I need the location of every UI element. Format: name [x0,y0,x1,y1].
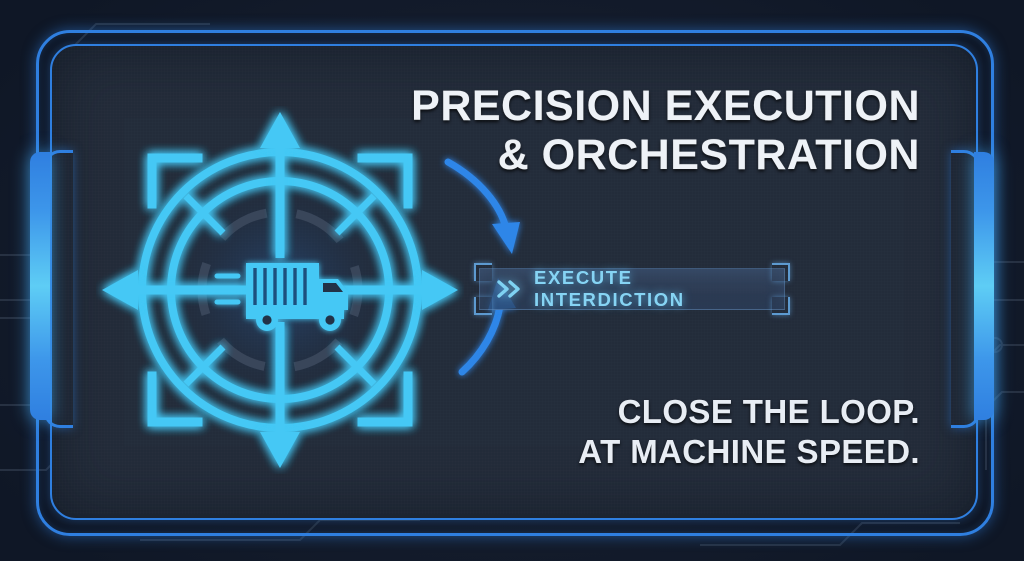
tagline: CLOSE THE LOOP. AT MACHINE SPEED. [360,392,920,473]
cta-bracket-bottom-right [772,297,790,315]
cta-bracket-top-right [772,263,790,281]
cta-bracket-top-left [474,263,492,281]
tagline-line-2: AT MACHINE SPEED. [360,432,920,472]
loop-arrow-bottom [462,306,500,372]
cta-label: EXECUTE INTERDICTION [534,267,784,311]
loop-arrow-top-head [492,222,520,254]
cta-bracket-bottom-left [474,297,492,315]
page-title: PRECISION EXECUTION & ORCHESTRATION [360,82,920,180]
execute-interdiction-button[interactable]: EXECUTE INTERDICTION [479,268,785,310]
left-accent-bar [30,152,50,420]
cta-body[interactable]: EXECUTE INTERDICTION [479,268,785,310]
title-line-2: & ORCHESTRATION [360,131,920,180]
tagline-line-1: CLOSE THE LOOP. [618,393,920,430]
double-chevron-right-icon [496,279,522,299]
title-line-1: PRECISION EXECUTION [411,82,920,130]
right-accent-bar [974,152,994,420]
slide-canvas: PRECISION EXECUTION & ORCHESTRATION EXEC… [0,0,1024,561]
